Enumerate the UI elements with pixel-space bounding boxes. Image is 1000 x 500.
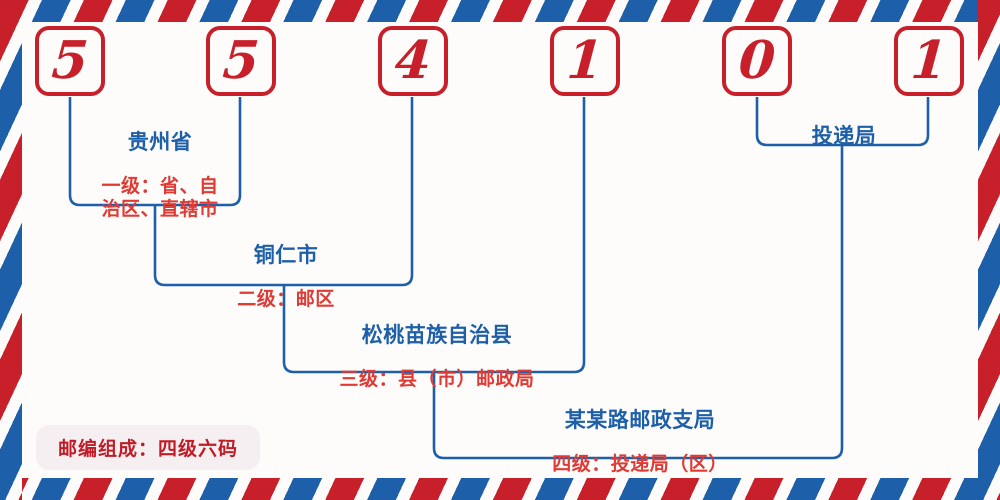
delivery-office-title: 投递局 xyxy=(770,124,918,149)
postcode-digit-2: 5 xyxy=(221,35,261,87)
postcode-digit-3: 4 xyxy=(393,35,433,87)
level-4-label: 某某路邮政支局 四级：投递局（区） xyxy=(470,390,810,494)
level-1-title: 贵州省 xyxy=(80,130,240,155)
level-1-subtitle: 一级：省、自 治区、直辖市 xyxy=(80,175,240,221)
legend-text: 邮编组成：四级六码 xyxy=(58,438,238,460)
postcode-digit-box-1[interactable]: 5 xyxy=(35,26,105,96)
postcode-digit-box-5[interactable]: 0 xyxy=(722,26,792,96)
postcode-digit-5: 0 xyxy=(737,35,777,87)
postcode-digit-box-6[interactable]: 1 xyxy=(894,26,964,96)
level-1-label: 贵州省 一级：省、自 治区、直辖市 xyxy=(80,112,240,239)
level-4-title: 某某路邮政支局 xyxy=(470,408,810,433)
level-2-title: 铜仁市 xyxy=(170,243,402,268)
level-4-subtitle: 四级：投递局（区） xyxy=(470,453,810,476)
postcode-digit-box-2[interactable]: 5 xyxy=(206,26,276,96)
legend-badge: 邮编组成：四级六码 xyxy=(36,425,260,470)
postcode-digit-4: 1 xyxy=(565,35,605,87)
envelope-postcode-diagram: 5 5 4 1 0 1 贵州省 一级：省、自 治区、直辖市 铜仁市 二级：邮区 … xyxy=(0,0,1000,500)
level-3-title: 松桃苗族自治县 xyxy=(298,323,576,348)
level-3-subtitle: 三级：县（市）邮政局 xyxy=(298,368,576,391)
delivery-office-label: 投递局 xyxy=(770,106,918,167)
postcode-digit-1: 5 xyxy=(50,35,90,87)
postcode-digit-6: 1 xyxy=(909,35,949,87)
postcode-digit-box-3[interactable]: 4 xyxy=(378,26,448,96)
postcode-digit-box-4[interactable]: 1 xyxy=(550,26,620,96)
